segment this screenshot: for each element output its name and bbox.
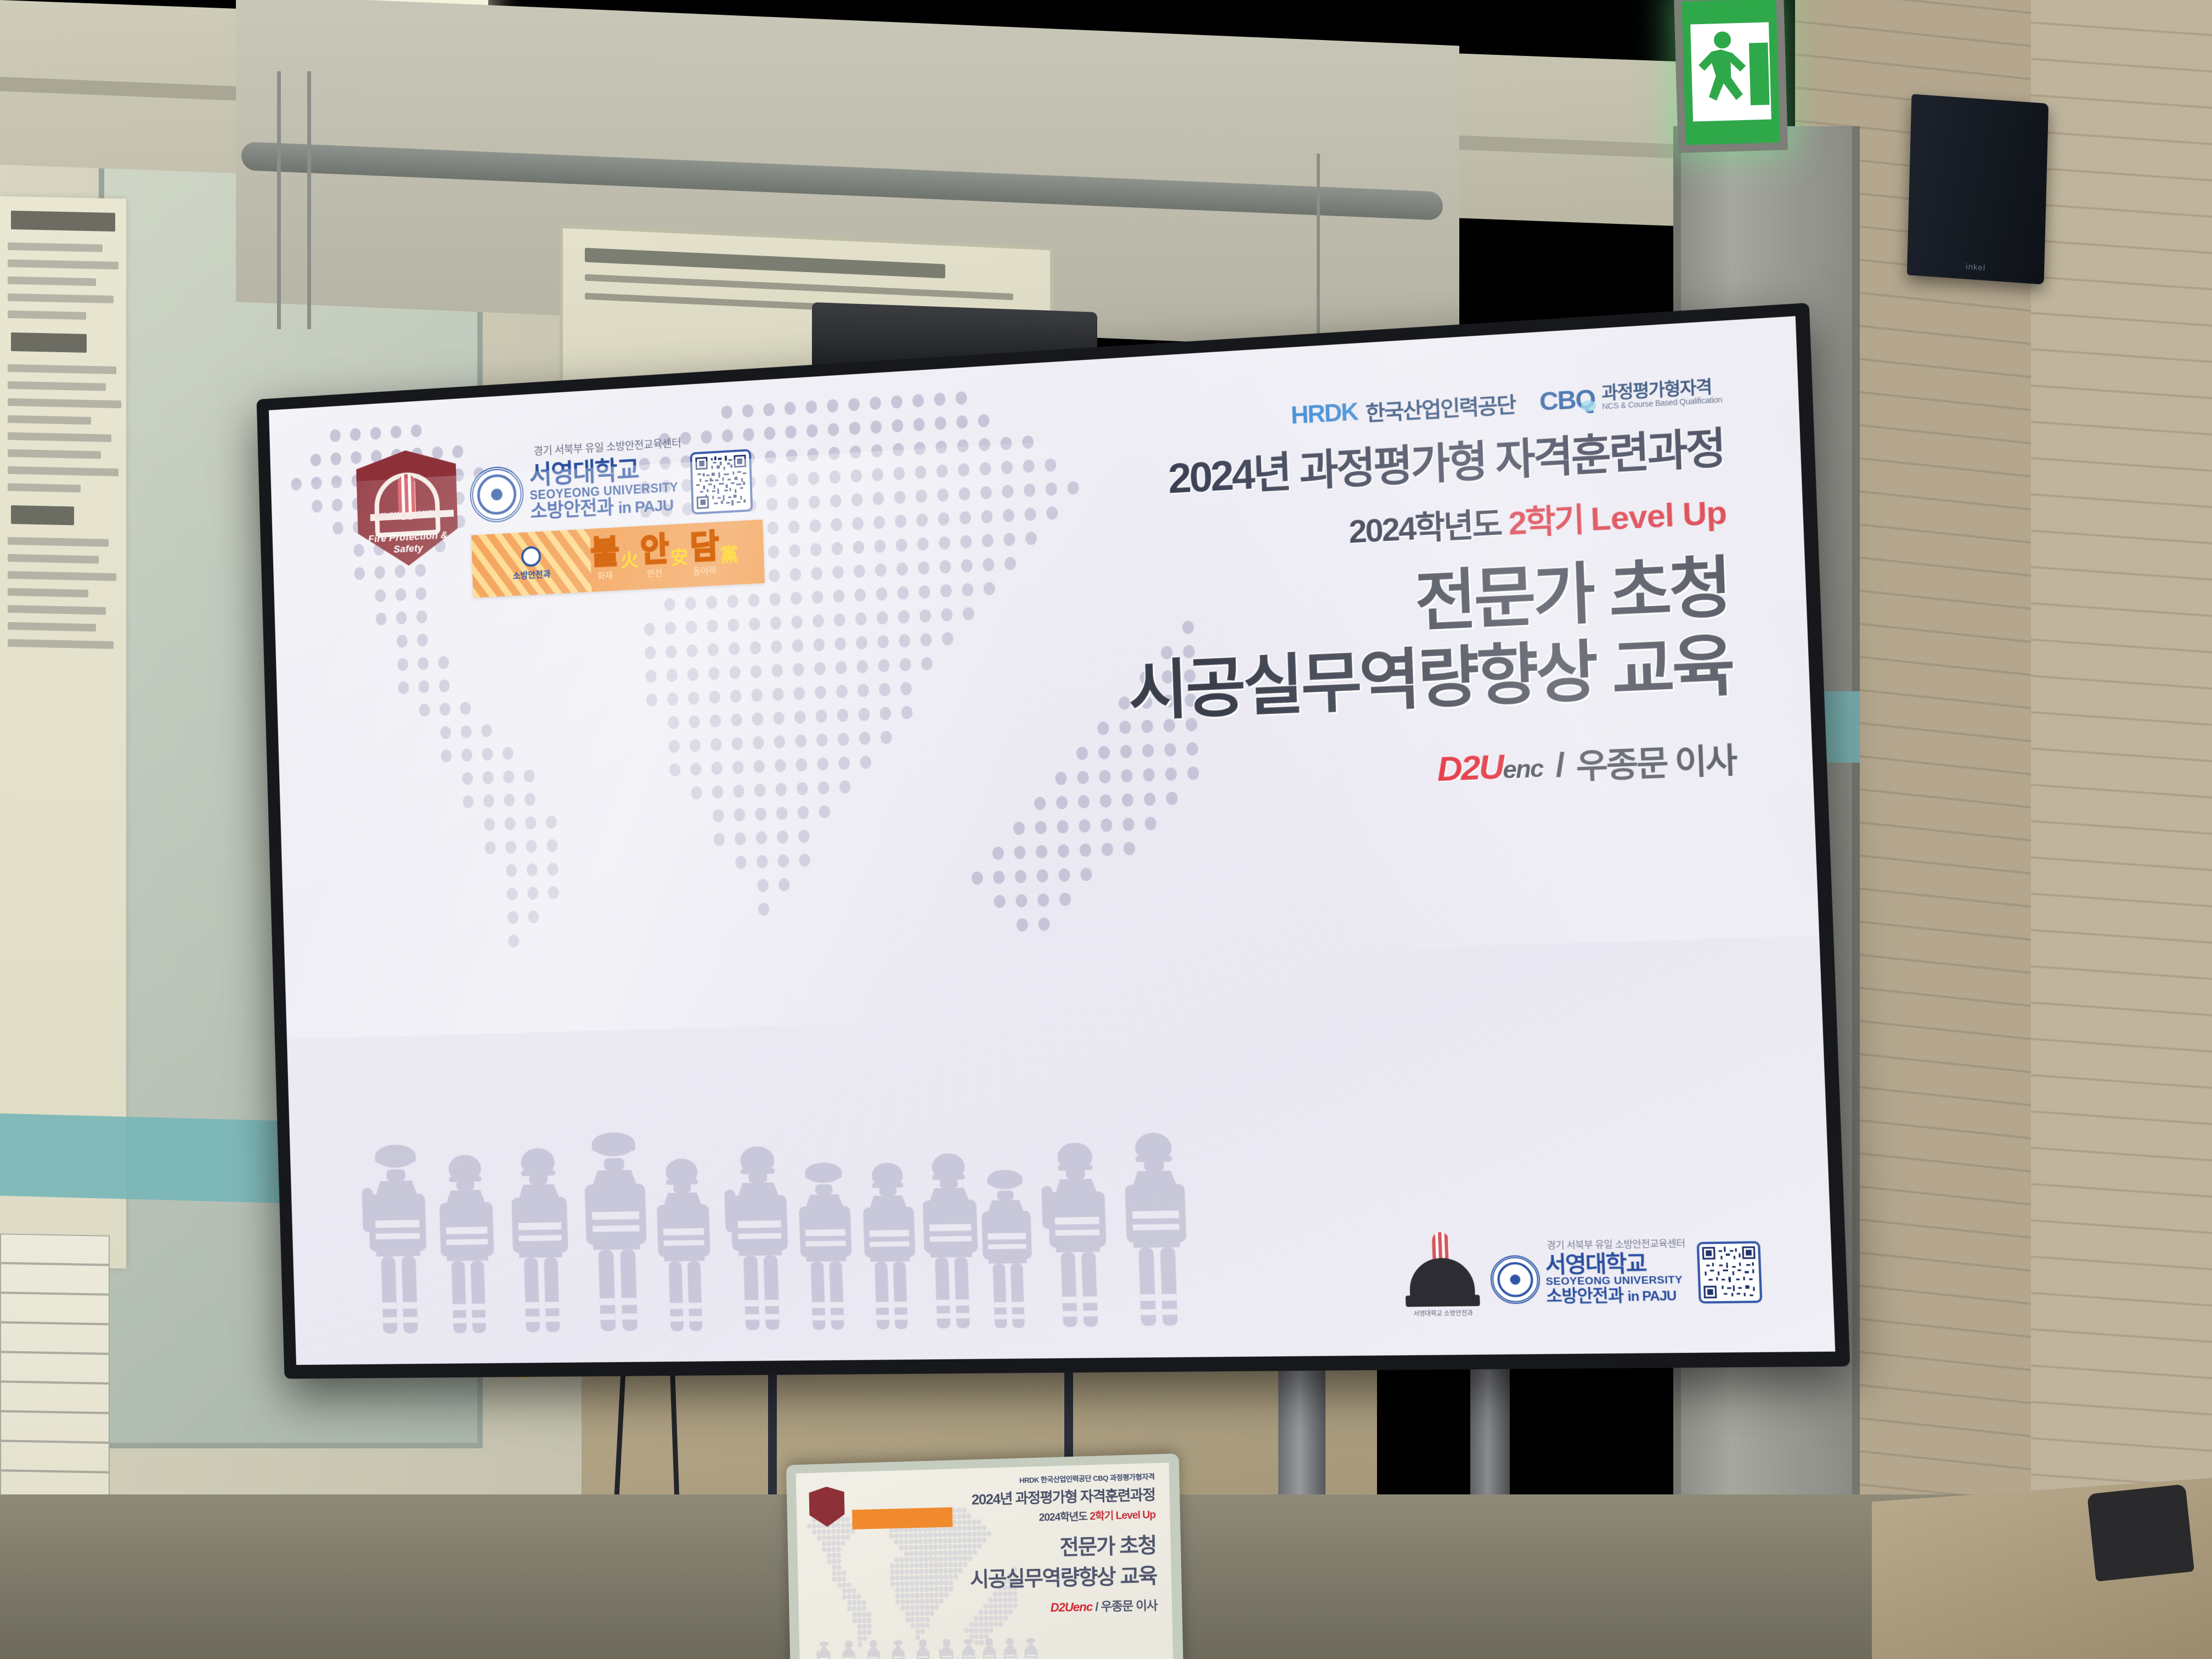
map-dot [944,1580,949,1585]
map-dot [913,1545,918,1550]
map-dot [857,1606,862,1611]
map-dot [690,739,701,752]
map-dot [914,1557,919,1562]
map-dot [971,871,983,885]
map-dot [827,1547,832,1552]
map-dot [829,470,840,484]
poster-firefighter-silhouette [815,1640,834,1659]
map-dot [933,1556,938,1562]
map-dot [710,714,721,727]
footer-qr-code-icon[interactable] [1697,1241,1763,1304]
map-dot [1101,819,1113,832]
map-dot [771,640,782,654]
map-dot [915,1617,920,1622]
d2u-enc-suffix: enc [1503,755,1544,784]
map-dot [909,1533,913,1538]
map-dot [914,1563,919,1568]
map-dot [462,795,473,809]
map-dot [794,710,806,724]
club-word-hanja: 火 [620,545,639,572]
map-dot [944,1574,949,1579]
poster-firefighter-silhouette [865,1640,883,1659]
map-dot [924,1581,929,1586]
map-dot [852,1618,857,1623]
map-dot [899,1557,904,1562]
map-dot [905,1605,910,1610]
map-dot [816,1523,821,1528]
footer-department: 소방안전과 [1546,1286,1624,1306]
map-dot [817,757,828,771]
map-dot [891,395,902,409]
map-dot [417,657,428,670]
footer-university-seal-icon [1489,1255,1541,1305]
map-dot [752,712,763,725]
map-dot [712,785,724,798]
poster-semester: 2024학년도 2학기 Level Up [969,1506,1156,1526]
map-dot [841,1541,846,1546]
map-dot [895,1581,900,1587]
map-dot [848,398,860,411]
map-dot [524,793,535,806]
map-dot [818,781,830,795]
map-dot [507,911,518,924]
map-dot [1015,870,1027,883]
map-dot [915,1605,919,1610]
map-dot [919,1587,924,1592]
map-dot [798,830,810,843]
map-dot [528,910,539,923]
poster-firefighter-silhouette [960,1638,978,1659]
map-dot [919,1575,924,1580]
map-dot [813,638,825,652]
semester-term: 2학기 [1508,501,1584,542]
map-dot [836,1522,840,1528]
map-dot [331,475,342,488]
map-dot [929,1581,934,1586]
map-dot [918,1556,923,1562]
map-dot [789,568,801,582]
map-dot [1122,817,1135,831]
map-dot [751,665,762,679]
map-dot [767,521,778,535]
map-dot [900,1575,905,1581]
poster-firefighter-silhouette [840,1640,859,1659]
map-dot [833,589,844,603]
map-dot [728,618,740,632]
club-word-ko: 불 [590,537,619,569]
map-dot [955,391,967,405]
map-dot [894,1533,899,1539]
semester-level: Level Up [1590,494,1727,538]
map-dot [943,1550,948,1555]
map-dot [840,1528,845,1534]
firefighter-helmet-icon: 서영대학교 소방안전과 [1403,1233,1480,1307]
map-dot [974,1622,979,1627]
map-dot [731,713,742,726]
poster-firefighter-silhouette [1022,1637,1041,1659]
map-dot [827,1559,832,1564]
map-dot [733,808,745,821]
wall-notice-left [0,196,126,1269]
map-dot [749,641,761,655]
map-dot [952,1526,957,1531]
map-dot [330,429,341,442]
poster-headline-2: 시공실무역량향상 교육 [970,1559,1157,1593]
map-dot [953,1562,958,1567]
map-dot [686,620,697,634]
club-word-hanja: 黨 [720,540,738,567]
map-dot [819,805,830,819]
map-dot [811,567,822,580]
map-dot [832,1571,837,1576]
map-dot [962,1508,967,1513]
map-dot [957,1550,962,1555]
map-dot [948,1556,953,1561]
map-dot [939,1586,944,1592]
firefighter-silhouette [970,1166,1045,1333]
map-dot [894,1563,899,1568]
map-dot [646,693,658,707]
map-dot [924,1568,929,1574]
map-dot [826,1529,831,1534]
map-dot [904,1563,909,1568]
map-dot [953,1556,958,1561]
map-dot [785,402,796,415]
map-dot [962,1520,967,1525]
map-dot [934,1575,939,1580]
map-dot [895,1575,900,1581]
map-dot [952,1538,957,1543]
map-dot [748,594,760,607]
map-dot [441,749,452,763]
map-dot [547,862,558,876]
map-dot [312,500,323,513]
map-dot [912,394,924,408]
map-dot [834,613,845,627]
map-dot [827,1553,832,1558]
map-dot [943,1532,947,1538]
map-dot [417,634,428,647]
map-dot [841,1534,846,1540]
map-dot [1037,893,1049,907]
map-dot [957,1538,962,1543]
map-dot [924,1599,929,1604]
map-dot [370,427,381,440]
map-dot [686,644,698,657]
map-dot [928,1538,933,1544]
map-dot [1036,869,1048,883]
map-dot [938,1568,943,1574]
map-dot [836,1553,841,1558]
map-dot [934,392,945,406]
map-dot [805,400,817,414]
blind-chain[interactable] [277,71,281,329]
map-dot [910,1623,915,1628]
map-dot [831,1534,836,1540]
map-dot [791,615,803,629]
map-dot [506,888,517,901]
map-dot [920,1629,925,1634]
map-dot [1124,842,1136,855]
wall-mounted-tv[interactable]: 서영대학교 소방안전과 Fire Protection & Safety 경기 … [257,303,1850,1379]
map-dot [905,1617,910,1622]
map-dot [812,1529,817,1534]
map-dot [938,1556,943,1562]
map-dot [938,1550,943,1556]
map-dot [952,1520,957,1525]
map-dot [948,1568,953,1573]
map-dot [666,669,678,682]
map-dot [909,1575,914,1581]
map-dot [862,1612,867,1617]
map-dot [1036,845,1048,859]
slide-left-logo-cluster: 서영대학교 소방안전과 Fire Protection & Safety 경기 … [356,430,764,603]
club-department-label: 소방안전과 [512,567,551,582]
map-dot [708,667,720,680]
map-dot [776,806,788,820]
map-dot [1058,868,1070,882]
slide-footer-logo-group: 서영대학교 소방안전과 경기 서북부 유일 소방안전교육센터 서영대학교 SEO… [1403,1228,1763,1307]
map-dot [847,1582,851,1588]
map-dot [787,473,798,487]
map-dot [939,1574,944,1579]
map-dot [795,734,806,748]
map-dot [749,617,760,631]
map-dot [757,855,768,868]
map-dot [548,886,560,899]
map-dot [919,1581,924,1586]
map-dot [1058,844,1070,858]
firefighter-silhouette [645,1156,723,1336]
map-dot [969,1622,974,1627]
map-dot [462,772,473,785]
map-dot [836,685,848,698]
map-dot [644,623,656,636]
map-dot [506,864,517,877]
map-dot [851,1588,856,1594]
map-dot [962,1526,967,1531]
map-dot [461,725,472,738]
map-dot [1144,817,1156,831]
map-dot [933,1544,938,1550]
map-dot [857,1612,862,1617]
map-dot [948,1574,953,1579]
map-dot [789,544,800,558]
map-dot [962,1532,967,1537]
blind-chain-secondary[interactable] [307,71,311,329]
poster-firefighter-row [815,1636,1054,1659]
map-dot [845,1534,850,1540]
map-dot [962,1538,967,1543]
map-dot [895,1569,900,1575]
helmet-caption: 서영대학교 소방안전과 [1406,1308,1481,1318]
map-dot [943,1562,948,1567]
map-dot [438,656,449,669]
map-dot [928,1562,933,1568]
presenter-separator: / [1555,745,1564,784]
map-dot [904,1545,909,1550]
map-dot [861,1600,866,1605]
map-dot [984,1622,989,1627]
map-dot [947,1538,952,1543]
map-dot [709,691,720,704]
map-dot [816,733,828,747]
map-dot [1035,821,1047,834]
map-dot [900,1599,905,1605]
map-dot [503,747,513,760]
map-dot [755,808,766,821]
blind-cord[interactable] [1317,154,1320,362]
map-dot [770,616,782,630]
map-dot [836,1528,841,1534]
map-dot [504,794,515,807]
map-dot [1079,819,1091,833]
map-dot [836,1534,841,1540]
map-dot [832,1559,837,1564]
map-dot [842,1576,847,1582]
map-dot [729,666,741,680]
map-dot [1059,893,1071,906]
map-dot [953,1568,958,1573]
map-dot [765,450,776,464]
map-dot [799,854,810,867]
poster-firefighter-silhouette [1001,1638,1020,1659]
poster-course-title: 2024년 과정평가형 자격훈련과정 [968,1483,1155,1509]
standing-poster-board: HRDK 한국산업인력공단 CBQ 과정평가형자격 2024년 과정평가형 자격… [786,1453,1184,1659]
map-dot [962,1544,967,1549]
map-dot [809,519,821,533]
map-dot [785,425,797,439]
firefighter-silhouette-row [355,1107,1245,1339]
map-dot [910,1605,915,1610]
map-dot [957,1532,962,1537]
map-dot [974,1628,979,1633]
map-dot [852,1612,857,1617]
map-dot [933,1550,938,1556]
map-dot [786,449,798,462]
map-dot [904,1569,909,1575]
map-dot [764,426,776,440]
map-dot [688,691,699,704]
poster-text-column: HRDK 한국산업인력공단 CBQ 과정평가형자격 2024년 과정평가형 자격… [968,1471,1158,1617]
map-dot [792,639,804,653]
university-seal-icon [469,465,524,523]
map-dot [769,569,780,583]
map-dot [416,610,427,623]
map-dot [915,1587,919,1592]
map-dot [929,1611,934,1616]
map-dot [822,1535,827,1541]
map-dot [807,1523,812,1529]
map-dot [895,1599,900,1605]
map-dot [840,1516,845,1522]
map-dot [915,1593,919,1598]
map-dot [1015,894,1028,907]
emergency-exit-sign [1674,0,1788,153]
map-dot [332,499,343,512]
map-dot [894,1539,899,1545]
map-dot [928,1544,933,1550]
map-dot [758,902,769,916]
poster-semester-term: 2학기 Level Up [1090,1509,1155,1522]
map-dot [845,1522,850,1528]
fire-safety-shield-logo: 서영대학교 소방안전과 Fire Protection & Safety [356,448,459,568]
map-dot [924,1587,929,1592]
map-dot [900,1569,905,1575]
d2u-wordmark: D2U [1436,748,1503,789]
map-dot [994,1621,998,1627]
map-dot [508,934,519,947]
firefighter-silhouette [1035,1140,1121,1331]
map-dot [777,854,789,867]
map-dot [905,1581,910,1587]
map-dot [969,1628,974,1633]
map-dot [948,1562,953,1567]
map-dot [707,619,718,633]
map-dot [964,1628,969,1633]
map-dot [815,686,826,699]
map-dot [706,596,718,610]
map-dot [757,879,769,892]
university-campus: in PAJU [618,496,674,517]
club-seal-icon [521,546,541,567]
map-dot [904,1533,909,1538]
map-dot [753,736,764,749]
map-dot [505,840,516,854]
map-dot [958,1568,963,1573]
map-dot [1014,845,1026,859]
map-dot [832,1577,837,1582]
firefighter-silhouette [499,1145,582,1337]
map-dot [948,1550,953,1555]
map-dot [861,1606,866,1611]
map-dot [952,1550,957,1555]
map-dot [958,1562,963,1567]
map-dot [947,1532,952,1537]
map-dot [411,424,422,437]
map-dot [953,1574,958,1579]
map-dot [821,1529,826,1534]
qr-code-icon[interactable] [690,449,753,515]
map-dot [847,1594,852,1600]
map-dot [856,1600,861,1605]
map-dot [797,782,808,795]
map-dot [939,1592,944,1598]
map-dot [713,809,724,822]
club-word: 불화재 [590,537,619,583]
map-dot [915,1611,920,1616]
map-dot [899,1539,904,1544]
map-dot [905,1593,910,1599]
map-dot [397,635,408,648]
presentation-slide: 서영대학교 소방안전과 Fire Protection & Safety 경기 … [269,316,1835,1365]
map-dot [924,1575,929,1580]
map-dot [396,611,407,624]
map-dot [910,1581,915,1587]
map-dot [915,1623,920,1628]
map-dot [812,614,824,628]
map-dot [822,1541,827,1547]
map-dot [923,1556,928,1562]
map-dot [998,1621,1003,1627]
map-dot [928,1532,933,1538]
map-dot [711,761,723,775]
map-dot [828,447,840,460]
map-dot [993,871,1005,884]
map-dot [645,670,657,683]
map-dot [925,1623,930,1628]
map-dot [831,1529,836,1534]
